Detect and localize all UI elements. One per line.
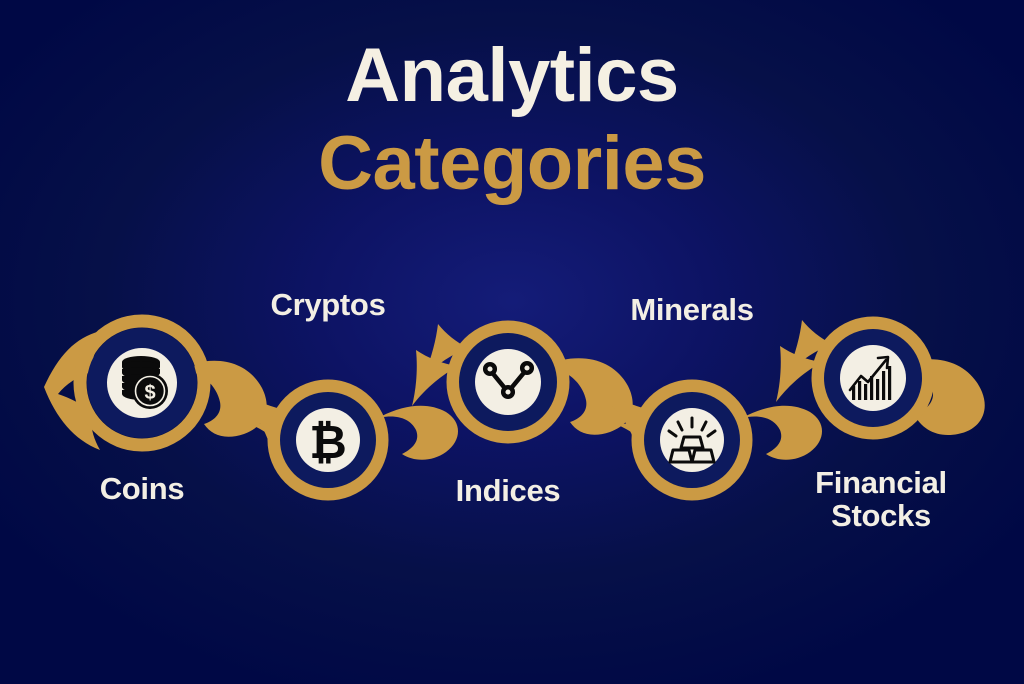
connector-minerals-to-stocks [742,406,822,460]
svg-text:$: $ [144,382,155,404]
node-indices[interactable] [453,327,563,437]
node-coins[interactable]: $ [80,321,204,445]
connector-indices-to-minerals [558,358,633,434]
node-financial-stocks[interactable] [818,323,928,433]
bitcoin-icon: ₿ [309,415,347,469]
label-indices: Indices [408,474,608,507]
node-indices-cream-disc [475,349,541,415]
label-financial-stocks: Financial Stocks [781,466,981,533]
label-cryptos: Cryptos [228,288,428,321]
connector-cryptos-to-indices [378,406,458,460]
category-flow-graphic: $ ₿ [0,0,1024,684]
svg-text:₿: ₿ [309,415,347,469]
label-coins: Coins [42,472,242,505]
infographic-canvas: Analytics Categories [0,0,1024,684]
node-minerals[interactable] [638,386,746,494]
node-cryptos[interactable]: ₿ [274,386,382,494]
label-minerals: Minerals [592,293,792,326]
